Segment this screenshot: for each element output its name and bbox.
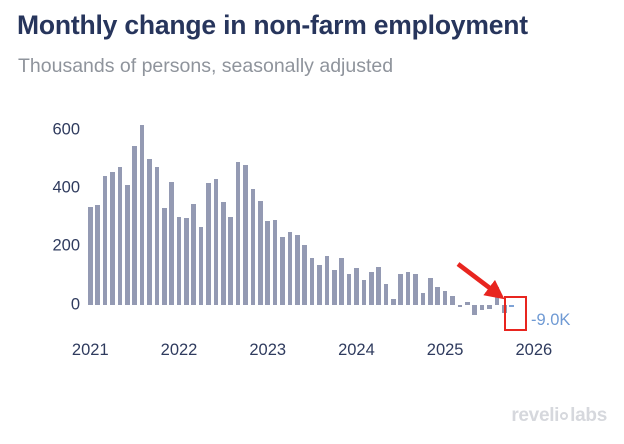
bar <box>472 305 477 315</box>
bar <box>258 201 263 305</box>
bar <box>243 165 248 305</box>
bar <box>369 272 374 304</box>
bar <box>110 172 115 305</box>
bar <box>465 302 470 305</box>
bar <box>347 274 352 305</box>
bar <box>88 207 93 305</box>
bar <box>251 189 256 304</box>
page-title: Monthly change in non-farm employment <box>17 10 528 41</box>
bar <box>458 305 463 308</box>
bar <box>428 278 433 304</box>
bar <box>132 146 137 305</box>
bar <box>155 167 160 304</box>
x-axis-tick-label: 2023 <box>249 341 286 360</box>
bar <box>384 284 389 304</box>
bar <box>398 274 403 305</box>
highlight-box <box>504 296 527 331</box>
bar <box>184 218 189 304</box>
bar <box>147 159 152 305</box>
bar <box>376 267 381 305</box>
chart-card: Monthly change in non-farm employment Th… <box>0 0 624 444</box>
bar <box>487 305 492 309</box>
plot-area <box>88 112 536 322</box>
bar <box>317 265 322 304</box>
bar <box>391 299 396 305</box>
bar <box>162 208 167 304</box>
o-dot-icon <box>560 412 568 420</box>
x-axis-tick-label: 2021 <box>72 341 109 360</box>
bar <box>362 280 367 305</box>
bar <box>406 272 411 304</box>
x-axis-tick-label: 2022 <box>161 341 198 360</box>
bar <box>310 258 315 305</box>
bar <box>450 296 455 305</box>
watermark-text-after: labs <box>570 405 607 427</box>
bar <box>295 235 300 305</box>
bar <box>191 204 196 305</box>
bar <box>421 293 426 305</box>
bar <box>177 217 182 305</box>
bar <box>169 182 174 305</box>
bar <box>413 274 418 305</box>
bar <box>125 185 130 305</box>
x-axis-tick-label: 2026 <box>515 341 552 360</box>
x-axis: 202120222023202420252026 <box>0 341 624 369</box>
bar <box>118 167 123 304</box>
bar <box>199 227 204 304</box>
bar <box>339 258 344 305</box>
bar <box>480 305 485 311</box>
bar <box>325 256 330 304</box>
y-axis-tick-label: 0 <box>71 295 80 314</box>
annotation-value-label: -9.0K <box>531 311 570 330</box>
bar <box>228 217 233 305</box>
y-axis-tick-label: 400 <box>52 178 80 197</box>
bar <box>495 287 500 305</box>
bar <box>443 291 448 304</box>
y-axis-tick-label: 600 <box>52 120 80 139</box>
bar <box>103 176 108 304</box>
x-axis-tick-label: 2024 <box>338 341 375 360</box>
bar <box>354 268 359 304</box>
bar <box>288 232 293 305</box>
bar <box>206 183 211 304</box>
bar <box>140 125 145 304</box>
y-axis-tick-label: 200 <box>52 237 80 256</box>
bar <box>265 221 270 304</box>
watermark-revelio-labs: reveli labs <box>511 405 607 427</box>
bar <box>95 205 100 304</box>
watermark-text-before: reveli <box>511 405 559 427</box>
y-axis: 0200400600 <box>0 0 80 444</box>
bar <box>302 245 307 305</box>
bar <box>435 287 440 305</box>
bar <box>236 162 241 305</box>
bar <box>332 270 337 305</box>
x-axis-tick-label: 2025 <box>427 341 464 360</box>
bar <box>280 237 285 304</box>
bar <box>273 220 278 305</box>
bar <box>214 179 219 304</box>
bar <box>221 202 226 304</box>
